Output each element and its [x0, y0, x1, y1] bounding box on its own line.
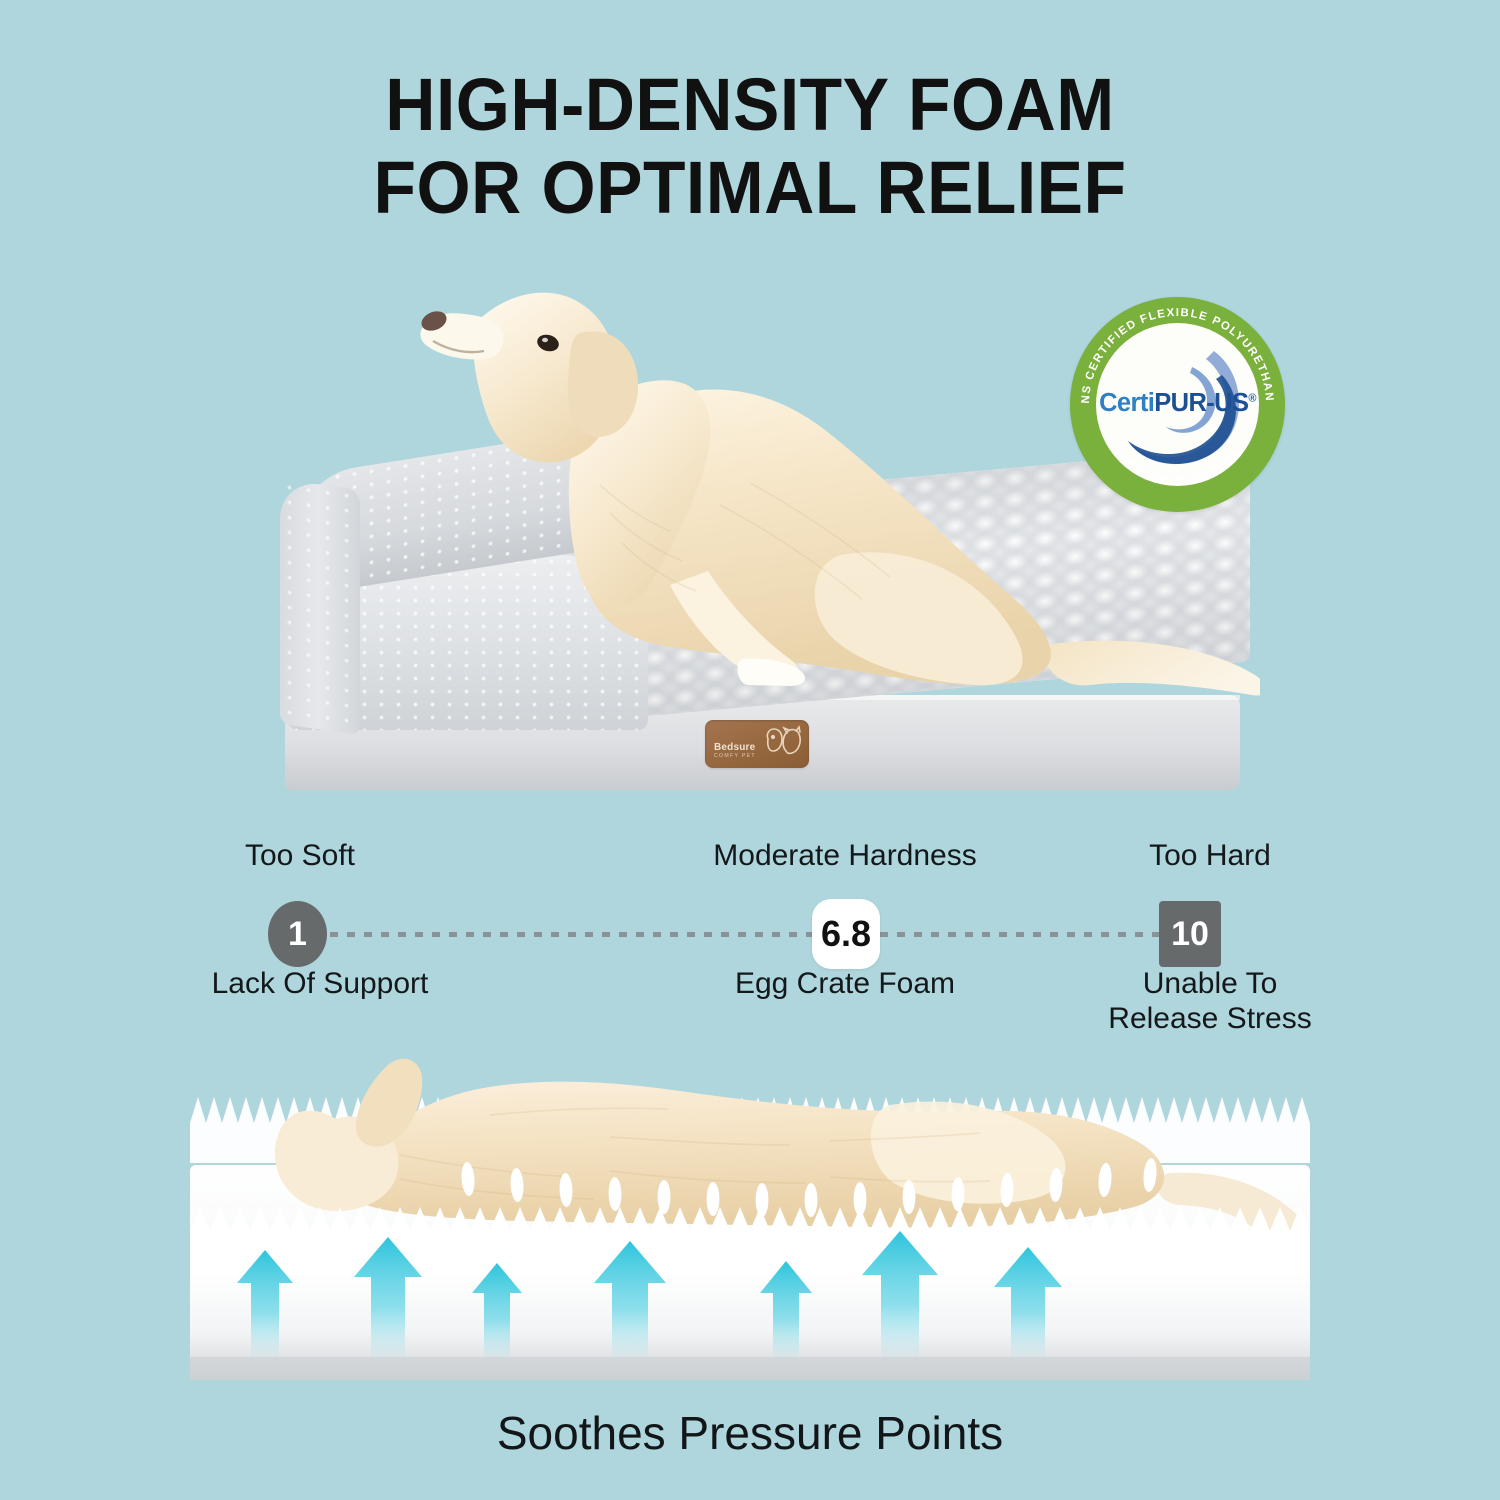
page-title: HIGH-DENSITY FOAM FOR OPTIMAL RELIEF [45, 64, 1455, 230]
scale-marker-1-value: 1 [288, 915, 307, 954]
brand-tag-name: Bedsure [714, 742, 755, 753]
bolster-side-arm [280, 479, 360, 735]
scale-marker-10-value: 10 [1171, 915, 1209, 954]
dog-ear-upper [568, 331, 638, 437]
dog-cat-logo-icon [762, 725, 804, 759]
dog-eye-upper [535, 332, 561, 353]
brand-tag: Bedsure COMFY PET [705, 720, 809, 768]
scale-label-bottom-2: Egg Crate Foam [700, 966, 990, 1001]
scale-marker-68-value: 6.8 [821, 913, 871, 955]
scale-track: 1 6.8 10 [0, 898, 1500, 968]
scale-label-top-1: Too Soft [155, 838, 445, 873]
badge-wordmark-pur: PUR-US [1154, 389, 1248, 417]
headline-line-1: HIGH-DENSITY FOAM [385, 63, 1114, 146]
scale-label-top-2: Moderate Hardness [700, 838, 990, 873]
waffle-texture-side [280, 479, 360, 735]
scale-label-bottom-1: Lack Of Support [155, 966, 485, 1001]
dog-eye-highlight-upper [542, 338, 548, 342]
bottom-caption: Soothes Pressure Points [0, 1406, 1500, 1460]
dog-nose-upper [419, 308, 450, 334]
scale-dash-segment-left [330, 932, 815, 937]
scale-label-top-3: Too Hard [1075, 838, 1345, 873]
scale-marker-68: 6.8 [812, 899, 880, 969]
scale-dash-segment-right [880, 932, 1160, 937]
dog-muzzle-upper [420, 313, 503, 359]
hardness-scale: Too Soft Moderate Hardness Too Hard 1 6.… [0, 838, 1500, 1048]
brand-tag-subtitle: COMFY PET [714, 753, 756, 759]
badge-registered-mark: ® [1248, 393, 1256, 405]
scale-marker-10: 10 [1159, 901, 1221, 967]
scale-label-bottom-3: Unable To Release Stress [1070, 966, 1350, 1036]
badge-wordmark: CertiPUR-US® [1070, 389, 1285, 418]
foam-and-dog-graphic [190, 1045, 1310, 1380]
badge-wordmark-certi: Certi [1099, 389, 1154, 417]
infographic-canvas: HIGH-DENSITY FOAM FOR OPTIMAL RELIEF [0, 0, 1500, 1500]
pressure-point-illustration [190, 1045, 1310, 1380]
foam-bottom-shadow [190, 1357, 1310, 1380]
dog-mouth-upper [433, 341, 484, 352]
headline-line-2: FOR OPTIMAL RELIEF [45, 147, 1455, 230]
scale-marker-1: 1 [268, 901, 327, 967]
certipur-us-badge: CONTAINS CERTIFIED FLEXIBLE POLYURETHANE… [1070, 297, 1285, 512]
